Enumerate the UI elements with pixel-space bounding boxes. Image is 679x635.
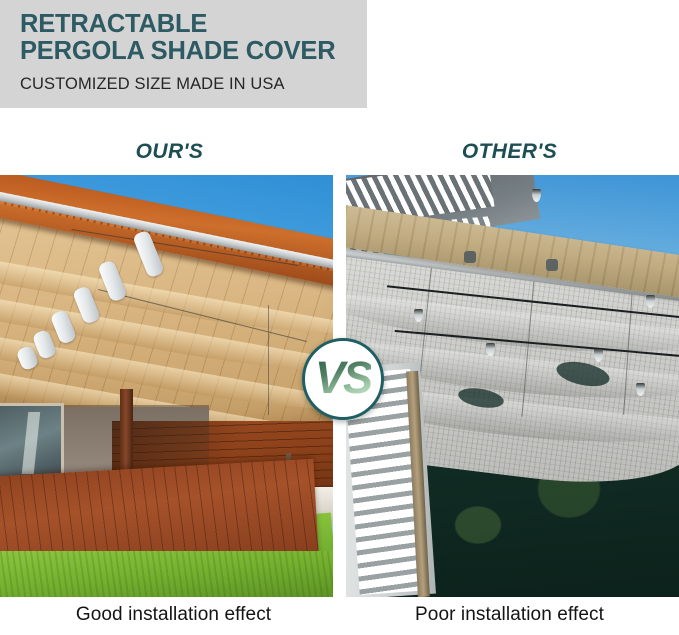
- caption-poor-install: Poor installation effect: [340, 604, 679, 626]
- caption-good-install: Good installation effect: [4, 604, 343, 626]
- label-ours: OUR'S: [0, 140, 339, 164]
- headline-line-2: PERGOLA SHADE COVER: [20, 38, 367, 65]
- photo-right-poor-install: [346, 175, 679, 597]
- left-scene: [0, 175, 333, 597]
- right-metal-clip: [546, 259, 558, 271]
- subheadline: CUSTOMIZED SIZE MADE IN USA: [20, 74, 367, 94]
- left-lawn: [0, 551, 333, 597]
- headline-line-1: RETRACTABLE: [20, 11, 367, 38]
- vs-label: VS: [315, 355, 371, 403]
- header-band: RETRACTABLE PERGOLA SHADE COVER CUSTOMIZ…: [0, 0, 367, 108]
- vs-badge: VS: [302, 338, 384, 420]
- right-scene: [346, 175, 679, 597]
- photo-left-good-install: [0, 175, 333, 597]
- caption-row: Good installation effect Poor installati…: [0, 600, 679, 635]
- comparison-label-row: OUR'S OTHER'S: [0, 140, 679, 172]
- right-metal-clip: [464, 251, 476, 263]
- label-others: OTHER'S: [340, 140, 679, 164]
